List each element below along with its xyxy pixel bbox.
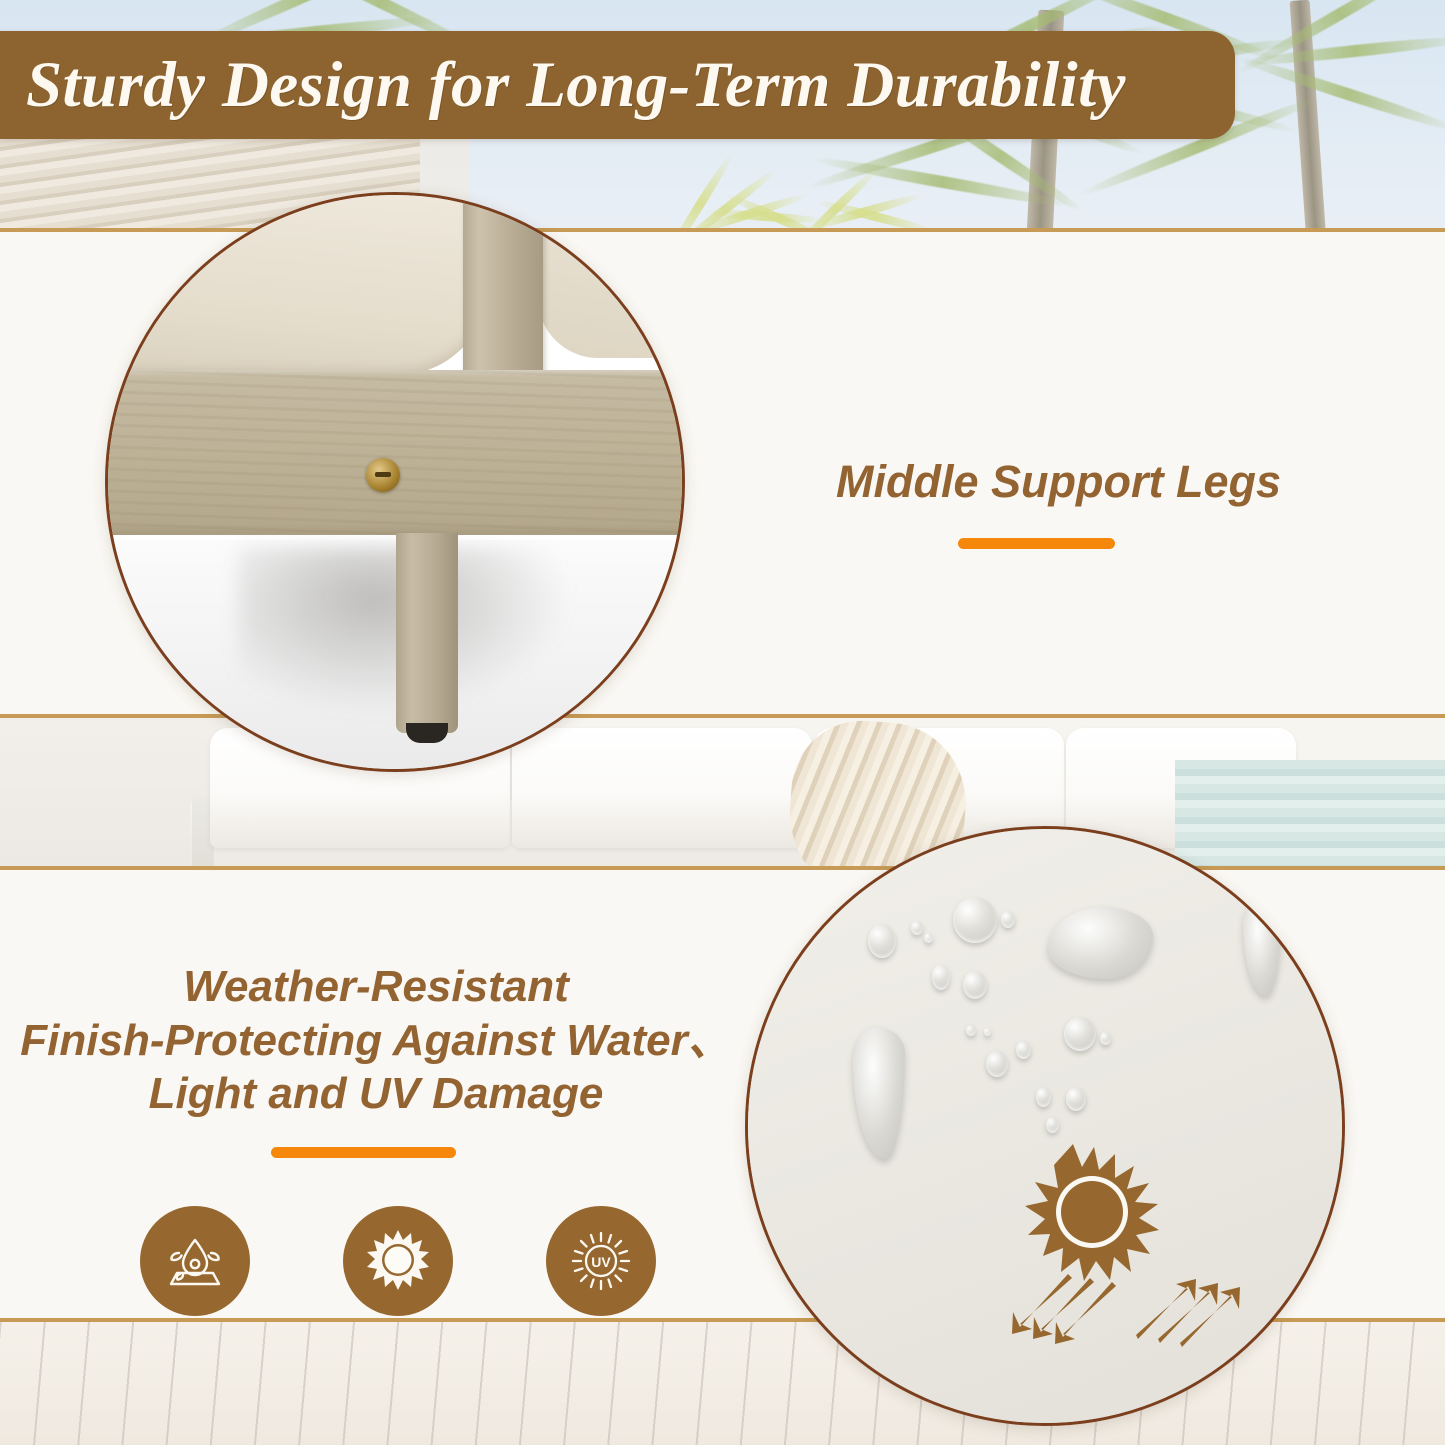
wood-divider-post — [463, 192, 543, 395]
callout-heading-line-1: Weather-Resistant — [16, 960, 736, 1014]
middle-support-leg-detail-photo — [105, 192, 685, 772]
cushion-edge — [538, 192, 685, 358]
water-repellent-icon — [140, 1206, 250, 1316]
callout-heading: Middle Support Legs — [836, 455, 1281, 510]
callout-middle-support-legs: Middle Support Legs — [836, 455, 1281, 549]
product-feature-graphic: Sturdy Design for Long-Term Durability — [0, 0, 1445, 1445]
uv-protection-icon: UV — [546, 1206, 656, 1316]
title-banner: Sturdy Design for Long-Term Durability — [0, 31, 1235, 139]
sun-icon — [343, 1206, 453, 1316]
feature-icon-row: UV — [140, 1206, 656, 1316]
accent-underline — [958, 538, 1115, 549]
water-and-uv-resistance-photo — [745, 826, 1345, 1426]
uv-label: UV — [591, 1254, 611, 1270]
callout-weather-resistant-finish: Weather-Resistant Finish-Protecting Agai… — [16, 960, 736, 1158]
wood-frame-rail — [105, 370, 685, 535]
callout-heading-line-3: Light and UV Damage — [16, 1067, 736, 1121]
leg-foot-pad — [406, 723, 448, 743]
middle-support-leg — [396, 533, 458, 733]
page-title: Sturdy Design for Long-Term Durability — [0, 48, 1126, 123]
callout-heading-line-2: Finish-Protecting Against Water、 — [16, 1014, 736, 1068]
cushion-edge — [105, 192, 488, 375]
accent-underline — [271, 1147, 456, 1158]
brass-screw — [366, 458, 400, 492]
sun-uv-graphic — [1010, 1134, 1240, 1369]
